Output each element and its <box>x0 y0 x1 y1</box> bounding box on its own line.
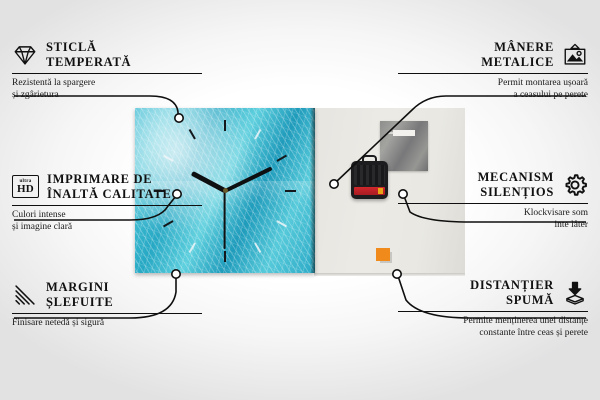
feature-tempered-glass: STICLĂ TEMPERATĂ Rezistentă la spargere … <box>12 40 202 102</box>
glass-edge-shadow <box>310 108 315 273</box>
feature-title-line1: STICLĂ <box>46 40 131 55</box>
foam-spacer-icon <box>562 280 588 306</box>
foam-spacer-pad <box>376 248 390 261</box>
feature-polished-edges: MARGINI ȘLEFUITE Finisare netedă și sigu… <box>12 280 202 329</box>
clock-tick <box>285 190 296 192</box>
diamond-icon <box>12 42 38 68</box>
feature-desc-line2: constante între ceas și perete <box>398 327 588 339</box>
feature-title-line1: DISTANȚIER <box>470 278 554 293</box>
feature-title-line2: SPUMĂ <box>470 293 554 308</box>
feature-silent-mechanism: MECANISM SILENȚIOS Klockvisare som inte … <box>398 170 588 232</box>
hanger-slot <box>393 130 415 136</box>
hands-center-cap <box>223 188 228 193</box>
clock-tick <box>224 120 226 131</box>
feature-desc-line2: și zgârietura <box>12 89 202 101</box>
feature-desc-line1: Culori intense <box>12 209 202 221</box>
polished-edge-icon <box>12 282 38 308</box>
mechanism-hanging-loop <box>362 155 377 164</box>
ultra-hd-icon-main: HD <box>17 184 34 195</box>
picture-frame-icon <box>562 42 588 68</box>
feature-metal-handles: MÂNERE METALICE Permit montarea ușoară a… <box>398 40 588 102</box>
feature-title-line1: MECANISM <box>478 170 554 185</box>
infographic-canvas: STICLĂ TEMPERATĂ Rezistentă la spargere … <box>0 0 600 400</box>
feature-title-line2: TEMPERATĂ <box>46 55 131 70</box>
feature-title-line1: MARGINI <box>46 280 113 295</box>
gear-icon <box>562 172 588 198</box>
battery <box>354 187 385 195</box>
feature-title-line1: MÂNERE <box>481 40 554 55</box>
feature-desc-line1: Klockvisare som <box>398 207 588 219</box>
feature-title-line2: METALICE <box>481 55 554 70</box>
feature-foam-spacer: DISTANȚIER SPUMĂ Permite menținerea unei… <box>398 278 588 340</box>
feature-desc-line2: și imagine clară <box>12 221 202 233</box>
feature-title-line2: SILENȚIOS <box>478 185 554 200</box>
feature-title-line2: ȘLEFUITE <box>46 295 113 310</box>
mechanism-body <box>354 165 385 185</box>
feature-desc-line1: Permit montarea ușoară <box>398 77 588 89</box>
feature-desc-line1: Rezistentă la spargere <box>12 77 202 89</box>
feature-desc-line1: Finisare netedă și sigură <box>12 317 202 329</box>
feature-desc-line2: inte låter <box>398 219 588 231</box>
feature-title-line1: IMPRIMARE DE <box>47 172 172 187</box>
feature-high-quality-print: ultra HD IMPRIMARE DE ÎNALTĂ CALITATE Cu… <box>12 172 202 234</box>
ultra-hd-icon: ultra HD <box>12 175 39 198</box>
clock-mechanism <box>351 161 388 199</box>
feature-title-line2: ÎNALTĂ CALITATE <box>47 187 172 202</box>
clock-tick <box>224 251 226 262</box>
feature-desc-line2: a ceasului pe perete <box>398 89 588 101</box>
second-hand <box>224 191 226 249</box>
feature-desc-line1: Permite menținerea unei distanțe <box>398 315 588 327</box>
